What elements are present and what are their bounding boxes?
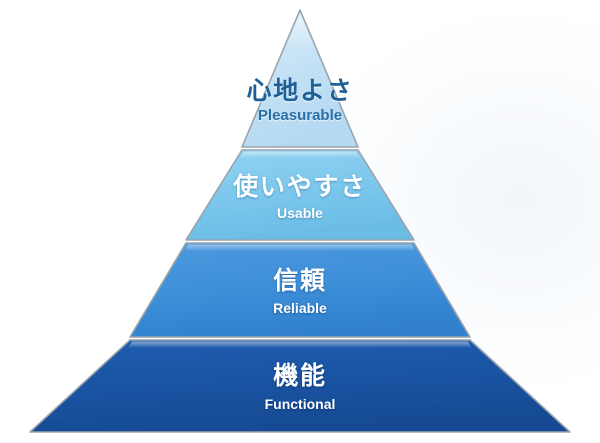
- pyramid-tier-pleasurable[interactable]: [242, 10, 358, 147]
- tier-usable-shape: [186, 150, 414, 240]
- diagram-canvas: 心地よさ Pleasurable 使いやすさ Usable 信頼 Reliabl…: [0, 0, 600, 443]
- tier-functional-highlight: [128, 342, 472, 349]
- tier-reliable-highlight: [184, 245, 416, 252]
- tier-pleasurable-highlight: [284, 14, 316, 50]
- pyramid-tier-usable[interactable]: [186, 150, 414, 240]
- tier-reliable-shape: [130, 243, 470, 337]
- pyramid-tier-reliable[interactable]: [130, 243, 470, 337]
- tier-functional-shape: [30, 340, 570, 432]
- tier-usable-highlight: [240, 152, 360, 159]
- pyramid-diagram: [0, 0, 600, 443]
- pyramid-tier-functional[interactable]: [30, 340, 570, 432]
